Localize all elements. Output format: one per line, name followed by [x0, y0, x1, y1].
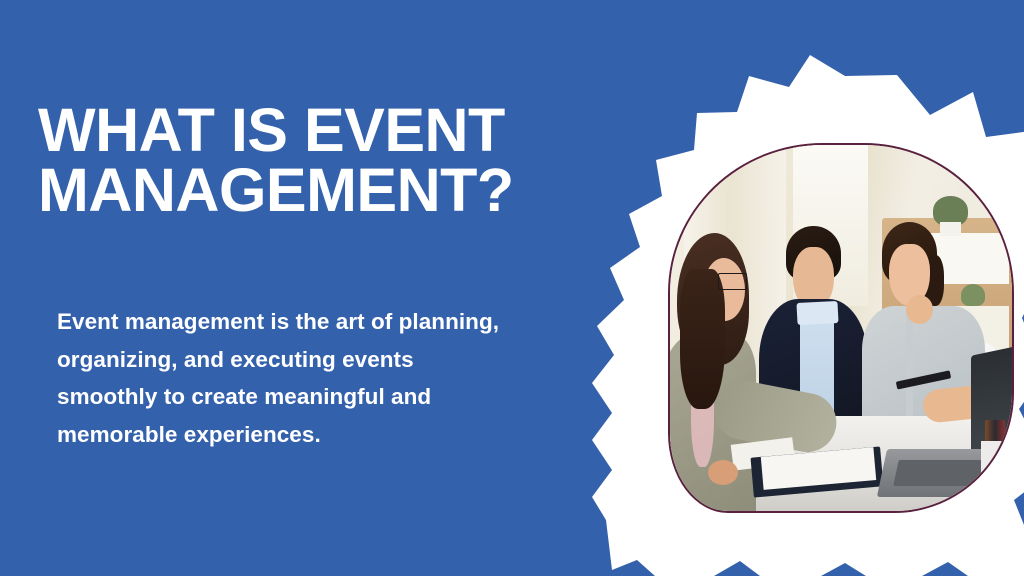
photo-plant-pot: [940, 222, 961, 237]
slide-canvas: WHAT IS EVENT MANAGEMENT? Event manageme…: [0, 0, 1024, 576]
photo-person-left-glasses: [718, 273, 747, 290]
text-column: WHAT IS EVENT MANAGEMENT?: [38, 100, 598, 221]
photo-laptop-keyboard: [893, 460, 987, 486]
photo-plant: [961, 284, 985, 306]
page-title: WHAT IS EVENT MANAGEMENT?: [38, 100, 598, 221]
photo-person-left-hair: [680, 269, 724, 408]
photo-pen-holder: [981, 441, 1008, 481]
photo-frame: [668, 143, 1014, 513]
photo-person-center-collar: [796, 301, 838, 325]
body-paragraph: Event management is the art of planning,…: [57, 303, 597, 453]
team-meeting-photo: [668, 143, 1014, 513]
